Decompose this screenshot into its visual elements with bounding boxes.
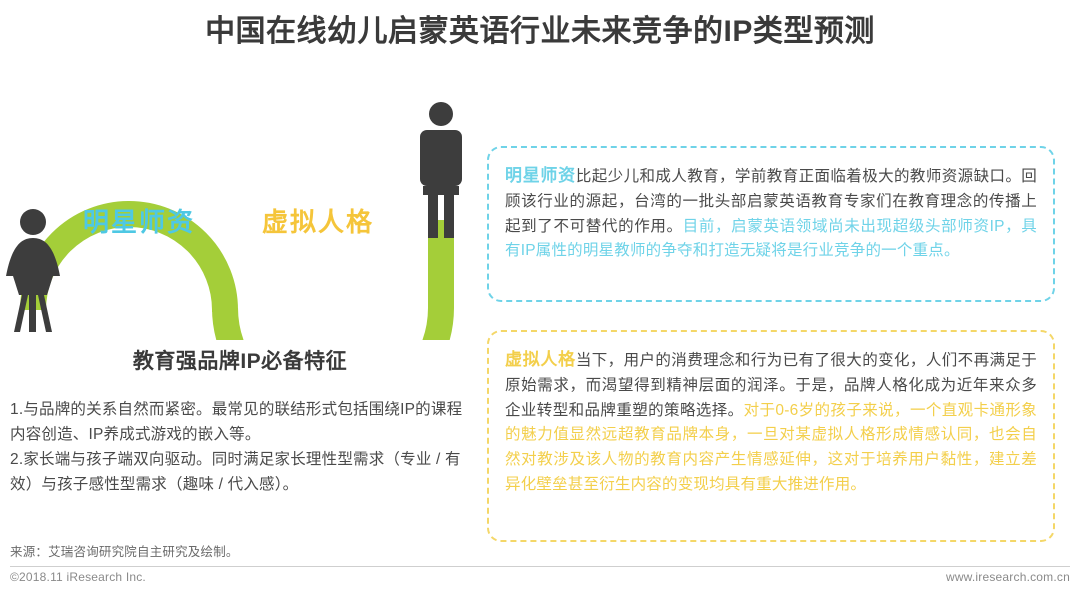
card-virtual-persona-heading: 虚拟人格 [505, 350, 576, 369]
footer-row: ©2018.11 iResearch Inc. www.iresearch.co… [10, 570, 1070, 584]
title-bar: 中国在线幼儿启蒙英语行业未来竞争的IP类型预测 [0, 14, 1080, 50]
page-title: 中国在线幼儿启蒙英语行业未来竞争的IP类型预测 [205, 14, 875, 50]
female-figure-icon [6, 209, 60, 332]
curve-label-star-teacher: 明星师资 [83, 202, 195, 239]
features-block: 教育强品牌IP必备特征 1.与品牌的关系自然而紧密。最常见的联结形式包括围绕IP… [10, 345, 470, 497]
website-link[interactable]: www.iresearch.com.cn [946, 570, 1070, 584]
features-title: 教育强品牌IP必备特征 [10, 345, 470, 375]
source-row: 来源：艾瑞咨询研究院自主研究及绘制。 [10, 541, 1070, 567]
s-curve-path-graphic [0, 90, 480, 340]
card-star-teacher-heading: 明星师资 [505, 166, 576, 185]
s-curve-diagram: 明星师资 虚拟人格 [0, 90, 480, 340]
copyright-text: ©2018.11 iResearch Inc. [10, 570, 146, 584]
infographic-page: 中国在线幼儿启蒙英语行业未来竞争的IP类型预测 [0, 0, 1080, 595]
feature-item: 2.家长端与孩子端双向驱动。同时满足家长理性型需求（专业 / 有效）与孩子感性型… [10, 447, 470, 497]
curve-label-virtual-persona: 虚拟人格 [262, 202, 374, 239]
card-star-teacher-text: 明星师资比起少儿和成人教育，学前教育正面临着极大的教师资源缺口。回顾该行业的源起… [505, 162, 1037, 264]
card-star-teacher: 明星师资比起少儿和成人教育，学前教育正面临着极大的教师资源缺口。回顾该行业的源起… [487, 146, 1055, 302]
card-virtual-persona: 虚拟人格当下，用户的消费理念和行为已有了很大的变化，人们不再满足于原始需求，而渴… [487, 330, 1055, 542]
source-text: 来源：艾瑞咨询研究院自主研究及绘制。 [10, 545, 239, 559]
feature-item: 1.与品牌的关系自然而紧密。最常见的联结形式包括围绕IP的课程内容创造、IP养成… [10, 397, 470, 447]
card-virtual-persona-text: 虚拟人格当下，用户的消费理念和行为已有了很大的变化，人们不再满足于原始需求，而渴… [505, 346, 1037, 498]
male-figure-icon [420, 102, 462, 238]
